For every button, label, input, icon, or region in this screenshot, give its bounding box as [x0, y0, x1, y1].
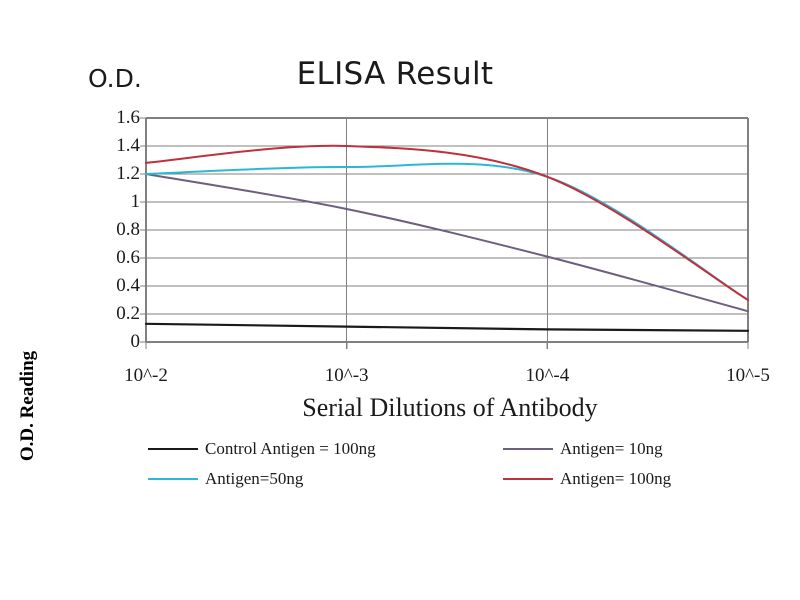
- chart-legend: Control Antigen = 100ng Antigen= 10ng An…: [140, 437, 760, 499]
- legend-color-swatch: [503, 448, 553, 450]
- legend-label: Antigen=50ng: [205, 469, 303, 489]
- legend-color-swatch: [148, 478, 198, 480]
- series-line: [146, 324, 748, 331]
- legend-item: Antigen= 10ng: [503, 439, 663, 459]
- legend-label: Antigen= 100ng: [560, 469, 671, 489]
- legend-color-swatch: [503, 478, 553, 480]
- series-line: [146, 174, 748, 311]
- legend-label: Control Antigen = 100ng: [205, 439, 376, 459]
- elisa-chart-figure: ELISA Result O.D. O.D. Reading Serial Di…: [0, 0, 800, 600]
- plot-area: [0, 0, 800, 600]
- legend-item: Antigen=50ng: [148, 469, 303, 489]
- legend-color-swatch: [148, 448, 198, 450]
- legend-item: Antigen= 100ng: [503, 469, 671, 489]
- legend-label: Antigen= 10ng: [560, 439, 663, 459]
- legend-item: Control Antigen = 100ng: [148, 439, 376, 459]
